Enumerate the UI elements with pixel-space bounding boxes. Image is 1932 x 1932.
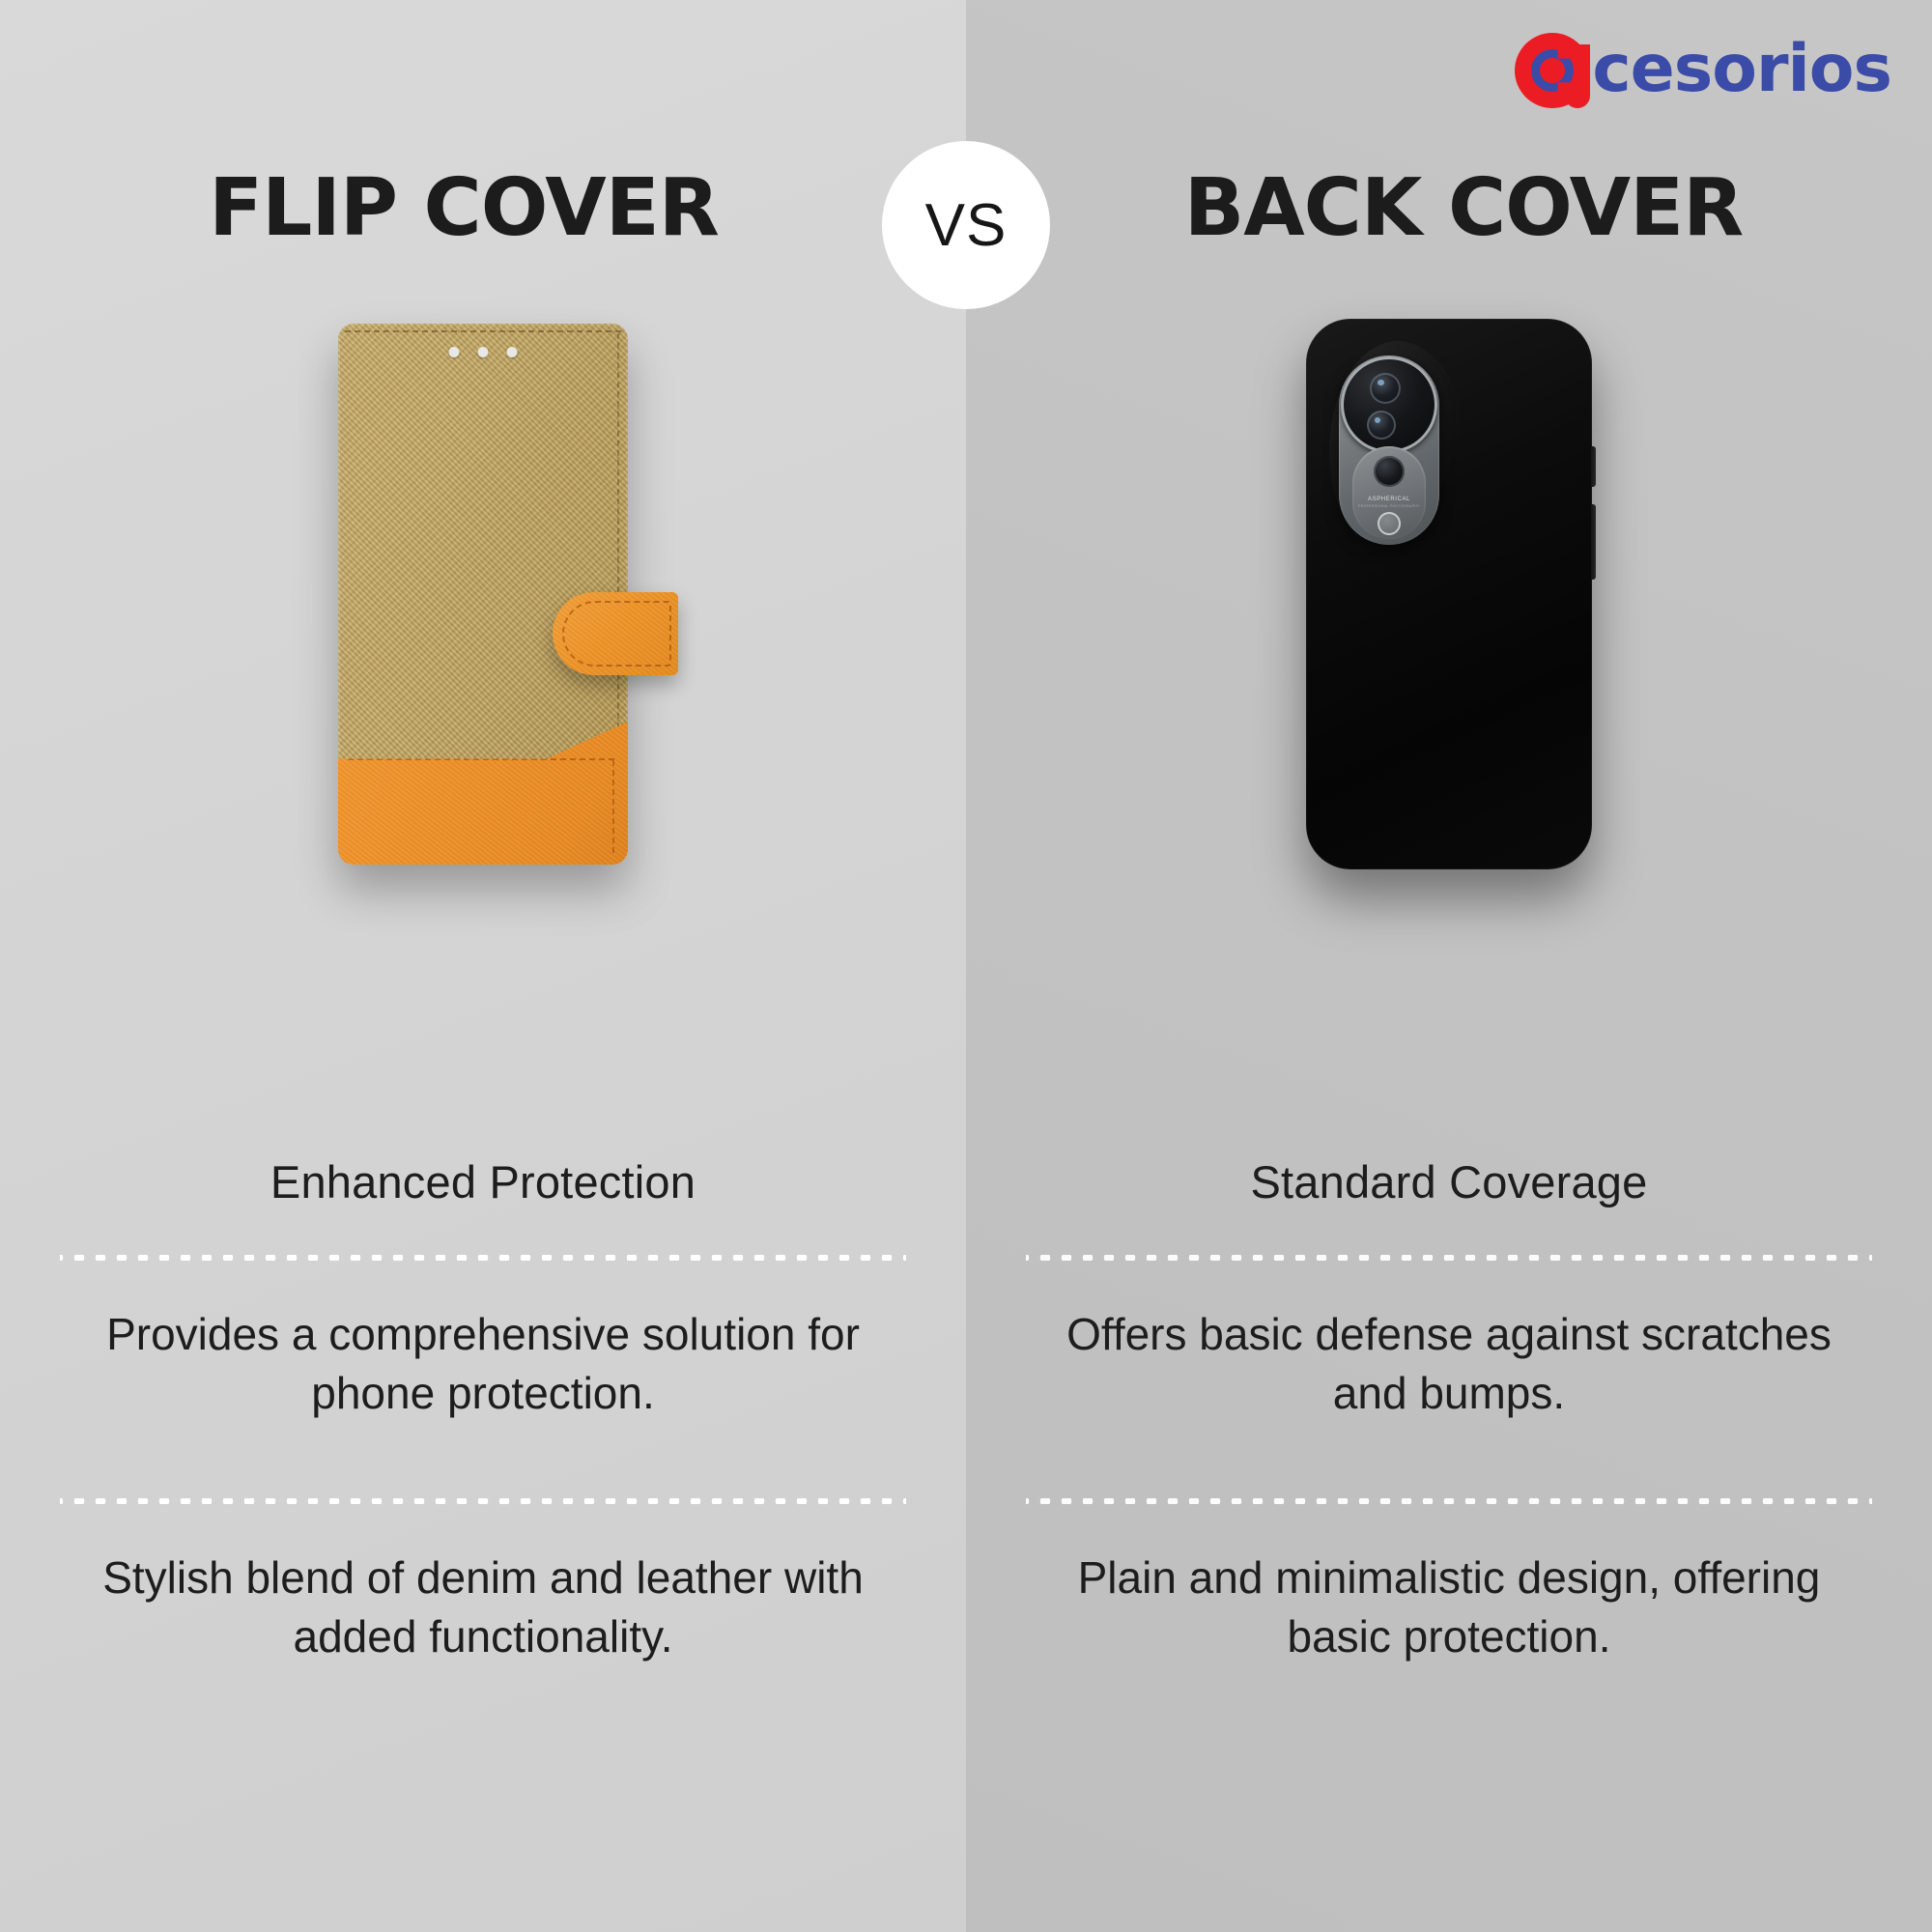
vs-badge-label: VS (925, 191, 1008, 260)
heading-flip-cover: FLIP COVER (0, 162, 966, 254)
camera-flash-ring (1378, 512, 1401, 535)
phone-power-button (1591, 504, 1596, 580)
flip-cover-subtitle: Enhanced Protection (60, 1150, 906, 1208)
brand-logo[interactable]: cesorios (1515, 29, 1891, 110)
flip-cover-product-stage (0, 290, 966, 898)
camera-sub-label: PROFESSIONAL PHOTOGRAPHY (1352, 504, 1426, 508)
acesorios-a-icon (1515, 29, 1596, 110)
camera-brand-text: ASPHERICAL PROFESSIONAL PHOTOGRAPHY (1352, 497, 1426, 508)
flip-cover-leather-panel (338, 722, 628, 865)
back-cover-divider-1 (1026, 1255, 1872, 1261)
camera-lens-secondary (1367, 411, 1396, 440)
flip-cover-feature-column: Enhanced Protection Provides a comprehen… (0, 1150, 966, 1665)
back-cover-feature-column: Standard Coverage Offers basic defense a… (966, 1150, 1932, 1665)
brand-logo-text: cesorios (1592, 37, 1891, 102)
comparison-infographic: cesorios FLIP COVER BACK COVER VS (0, 0, 1932, 1932)
flip-cover-divider-2 (60, 1498, 906, 1504)
flip-cover-divider-1 (60, 1255, 906, 1261)
camera-aspherical-label: ASPHERICAL (1352, 497, 1426, 504)
camera-module: ASPHERICAL PROFESSIONAL PHOTOGRAPHY (1339, 355, 1439, 545)
camera-lens-primary (1370, 373, 1401, 404)
back-cover-product-stage: ASPHERICAL PROFESSIONAL PHOTOGRAPHY (966, 290, 1932, 898)
back-cover-divider-2 (1026, 1498, 1872, 1504)
flip-cover-magnetic-clasp (553, 592, 678, 675)
flip-cover-feature-2: Stylish blend of denim and leather with … (60, 1548, 906, 1665)
heading-back-cover: BACK COVER (966, 162, 1932, 254)
back-cover-subtitle: Standard Coverage (1026, 1150, 1872, 1208)
back-cover-feature-1: Offers basic defense against scratches a… (1026, 1305, 1872, 1452)
camera-glass-dome (1341, 356, 1437, 453)
flip-cover-top-stitching (345, 330, 621, 332)
phone-volume-button (1591, 446, 1596, 487)
camera-lens-tertiary (1374, 456, 1405, 487)
back-cover-image: ASPHERICAL PROFESSIONAL PHOTOGRAPHY (1306, 319, 1592, 869)
flip-cover-feature-1: Provides a comprehensive solution for ph… (60, 1305, 906, 1452)
feature-comparison-rows: Enhanced Protection Provides a comprehen… (0, 1150, 1932, 1665)
flip-cover-camera-dots (449, 347, 518, 357)
back-cover-feature-2: Plain and minimalistic design, offering … (1026, 1548, 1872, 1665)
vs-badge: VS (882, 141, 1050, 309)
camera-lower-housing: ASPHERICAL PROFESSIONAL PHOTOGRAPHY (1352, 446, 1426, 539)
